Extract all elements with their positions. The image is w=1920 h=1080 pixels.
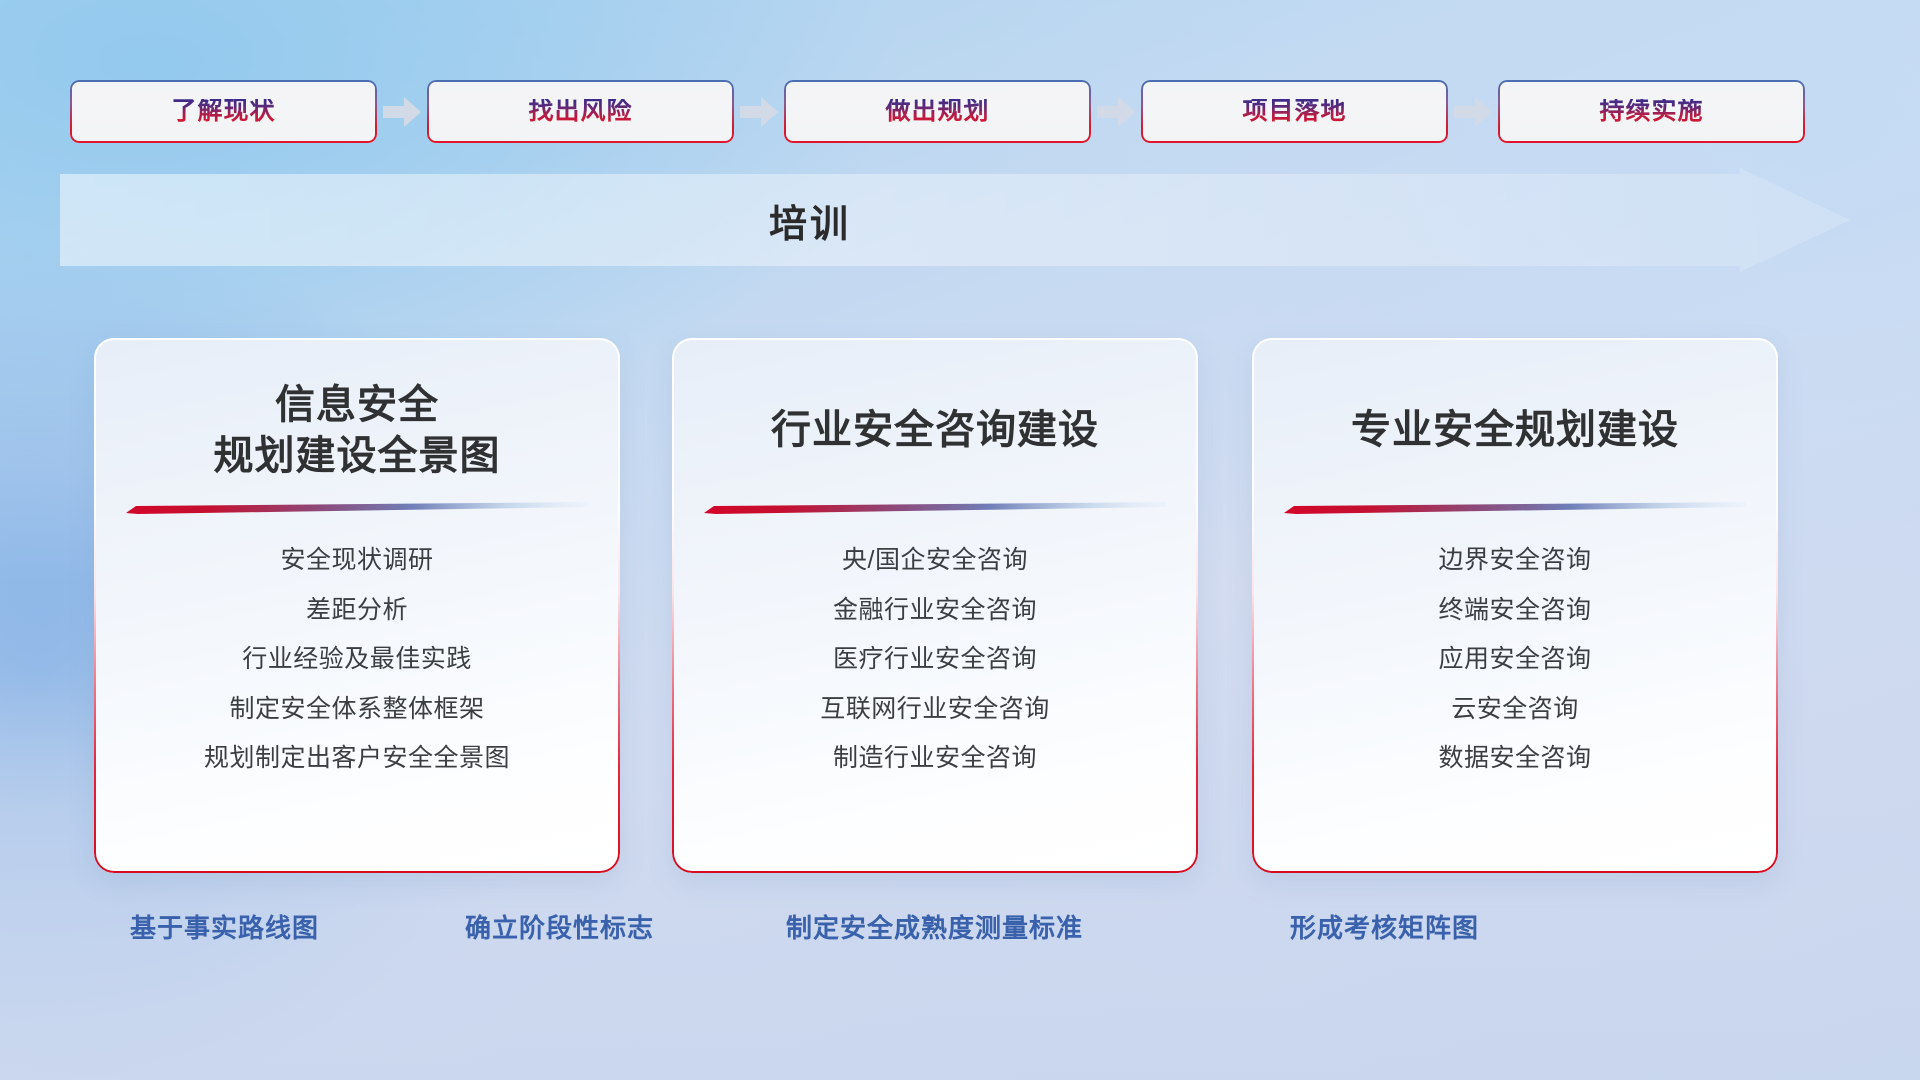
card-divider [126,502,588,514]
card-title-line: 行业安全咨询建设 [702,405,1168,456]
step-arrow-icon-2 [734,97,784,127]
step-chip-label: 做出规划 [885,99,989,124]
list-item: 央/国企安全咨询 [842,540,1028,581]
step-arrow-icon-4 [1448,97,1498,127]
caption-maturity: 制定安全成熟度测量标准 [786,908,1083,945]
step-chip-4[interactable]: 项目落地 [1141,80,1448,143]
card-information-security-blueprint[interactable]: 信息安全 规划建设全景图 [94,338,620,873]
card-list: 边界安全咨询 终端安全咨询 应用安全咨询 云安全咨询 数据安全咨询 [1282,540,1748,779]
list-item: 医疗行业安全咨询 [833,639,1037,680]
process-steps: 了解现状 找出风险 做出规划 项目落地 [70,79,1850,144]
step-chip-label: 了解现状 [171,99,275,124]
bottom-captions: 基于事实路线图 确立阶段性标志 制定安全成熟度测量标准 形成考核矩阵图 [0,908,1920,958]
list-item: 规划制定出客户安全全景图 [204,738,510,779]
step-arrow-icon-3 [1091,97,1141,127]
card-divider [704,502,1166,514]
list-item: 互联网行业安全咨询 [820,689,1050,730]
step-arrow-icon-1 [377,97,427,127]
list-item: 应用安全咨询 [1438,639,1591,680]
step-chip-1[interactable]: 了解现状 [70,80,377,143]
caption-matrix: 形成考核矩阵图 [1290,908,1479,945]
card-title-line: 信息安全 [124,380,590,431]
step-chip-label: 持续实施 [1599,99,1703,124]
list-item: 制造行业安全咨询 [833,738,1037,779]
list-item: 安全现状调研 [280,540,433,581]
list-item: 差距分析 [306,590,408,631]
step-chip-5[interactable]: 持续实施 [1498,80,1805,143]
step-chip-2[interactable]: 找出风险 [427,80,734,143]
card-divider [1284,502,1746,514]
list-item: 制定安全体系整体框架 [229,689,484,730]
card-professional-security-planning[interactable]: 专业安全规划建设 [1252,338,1778,873]
step-chip-label: 找出风险 [528,99,632,124]
training-banner: 培训 [60,168,1850,272]
caption-roadmap: 基于事实路线图 [130,908,319,945]
card-title: 专业安全规划建设 [1282,374,1748,488]
list-item: 行业经验及最佳实践 [242,639,472,680]
list-item: 边界安全咨询 [1438,540,1591,581]
caption-milestone: 确立阶段性标志 [465,908,654,945]
step-chip-3[interactable]: 做出规划 [784,80,1091,143]
card-title: 信息安全 规划建设全景图 [124,374,590,488]
card-title-line: 专业安全规划建设 [1282,405,1748,456]
training-banner-label: 培训 [60,168,1560,272]
list-item: 数据安全咨询 [1438,738,1591,779]
step-chip-label: 项目落地 [1242,99,1346,124]
list-item: 终端安全咨询 [1438,590,1591,631]
card-title-line: 规划建设全景图 [124,431,590,482]
cards-row: 信息安全 规划建设全景图 [0,338,1920,878]
list-item: 云安全咨询 [1451,689,1579,730]
card-industry-security-consulting[interactable]: 行业安全咨询建设 [672,338,1198,873]
list-item: 金融行业安全咨询 [833,590,1037,631]
card-list: 央/国企安全咨询 金融行业安全咨询 医疗行业安全咨询 互联网行业安全咨询 制造行… [702,540,1168,779]
slide-canvas: 了解现状 找出风险 做出规划 项目落地 [0,0,1920,1080]
card-list: 安全现状调研 差距分析 行业经验及最佳实践 制定安全体系整体框架 规划制定出客户… [124,540,590,779]
card-title: 行业安全咨询建设 [702,374,1168,488]
